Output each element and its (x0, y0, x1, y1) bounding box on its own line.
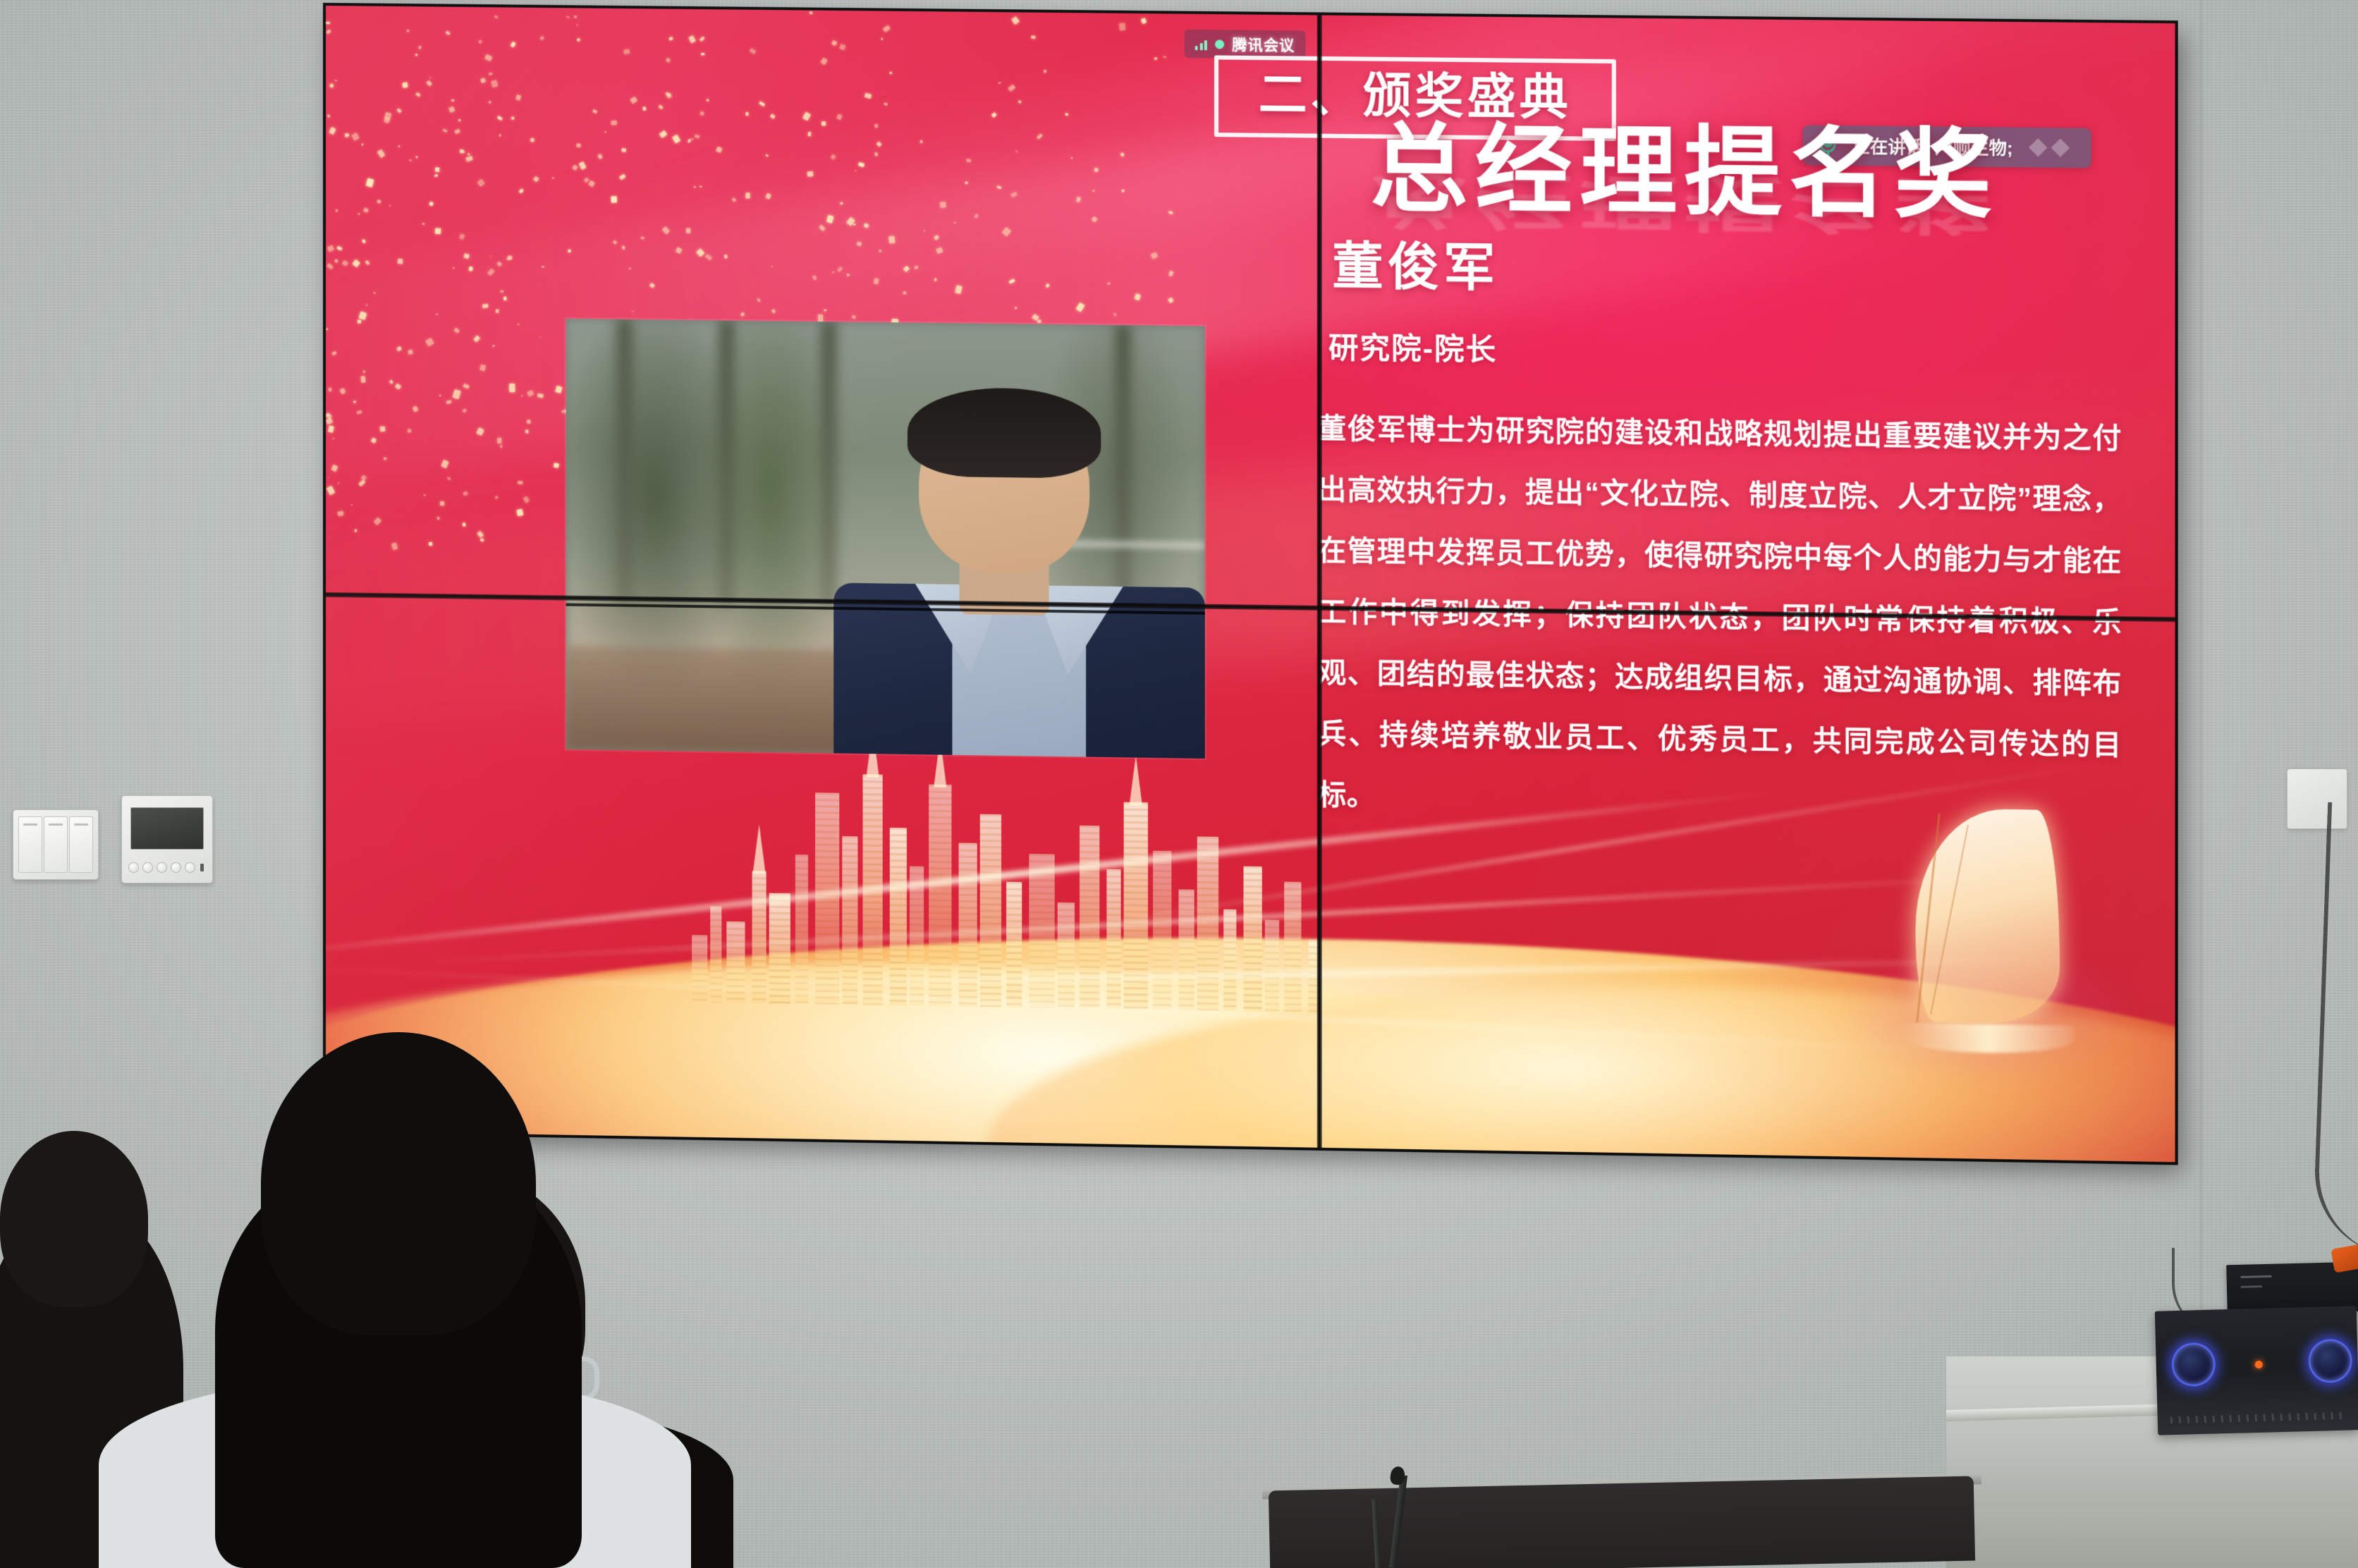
amplifier-vents (2170, 1412, 2347, 1424)
recipient-name: 董俊军 (1332, 241, 1499, 294)
power-cable (2312, 802, 2358, 1257)
av-receiver-label-1 (2241, 1275, 2272, 1278)
thermostat-panel[interactable] (121, 795, 213, 883)
recipient-role: 研究院-院长 (1328, 333, 1497, 365)
thermostat-fan-button[interactable] (157, 862, 167, 873)
video-wall-display[interactable]: 腾讯会议 正在讲话: 六顺生物; 二、颁奖盛典 总经理 (326, 6, 2175, 1162)
orange-connector (2330, 1244, 2358, 1273)
wall-seam (2200, 0, 2202, 1382)
recipient-photo (566, 319, 1204, 759)
presentation-slide: 腾讯会议 正在讲话: 六顺生物; 二、颁奖盛典 总经理 (326, 6, 2175, 1162)
amplifier-power-led (2255, 1361, 2263, 1368)
meeting-app-name: 腾讯会议 (1232, 33, 1295, 55)
light-switch-rocker-2[interactable] (44, 816, 68, 873)
meeting-status-bar[interactable]: 腾讯会议 (1185, 30, 1306, 59)
light-switch-rocker-1[interactable] (18, 816, 42, 873)
portrait-person (833, 382, 1205, 759)
thermostat-lcd-display (130, 807, 204, 850)
thermostat-up-button[interactable] (171, 862, 181, 873)
light-switch-panel[interactable] (13, 809, 99, 880)
thermostat-down-button[interactable] (185, 862, 195, 873)
signal-bars-icon (1195, 38, 1207, 50)
av-receiver-label-2 (2241, 1285, 2262, 1288)
connection-status-dot (1215, 39, 1224, 49)
citation-text: 董俊军博士为研究院的建设和战略规划提出重要建议并为之付出高效执行力，提出“文化立… (1318, 398, 2122, 838)
thermostat-indicator-led (200, 864, 204, 871)
thermostat-mode-button[interactable] (142, 862, 153, 873)
audio-amplifier[interactable] (2155, 1306, 2358, 1435)
thermostat-button-row (128, 862, 206, 873)
switch-rocker-group (13, 810, 98, 879)
thermostat-power-button[interactable] (128, 862, 139, 873)
slide-content: 腾讯会议 正在讲话: 六顺生物; 二、颁奖盛典 总经理 (326, 6, 2175, 1162)
citation-block: 董俊军博士为研究院的建设和战略规划提出重要建议并为之付出高效执行力，提出“文化立… (1318, 398, 2122, 838)
award-title: 总经理提名奖 (1212, 119, 2159, 226)
person-hair (908, 387, 1101, 479)
amplifier-gain-knob[interactable] (2308, 1338, 2353, 1383)
audience-member-2 (148, 1032, 642, 1568)
conference-room: 腾讯会议 正在讲话: 六顺生物; 二、颁奖盛典 总经理 (0, 0, 2358, 1568)
amplifier-volume-knob[interactable] (2171, 1342, 2216, 1388)
light-switch-rocker-3[interactable] (69, 816, 93, 873)
